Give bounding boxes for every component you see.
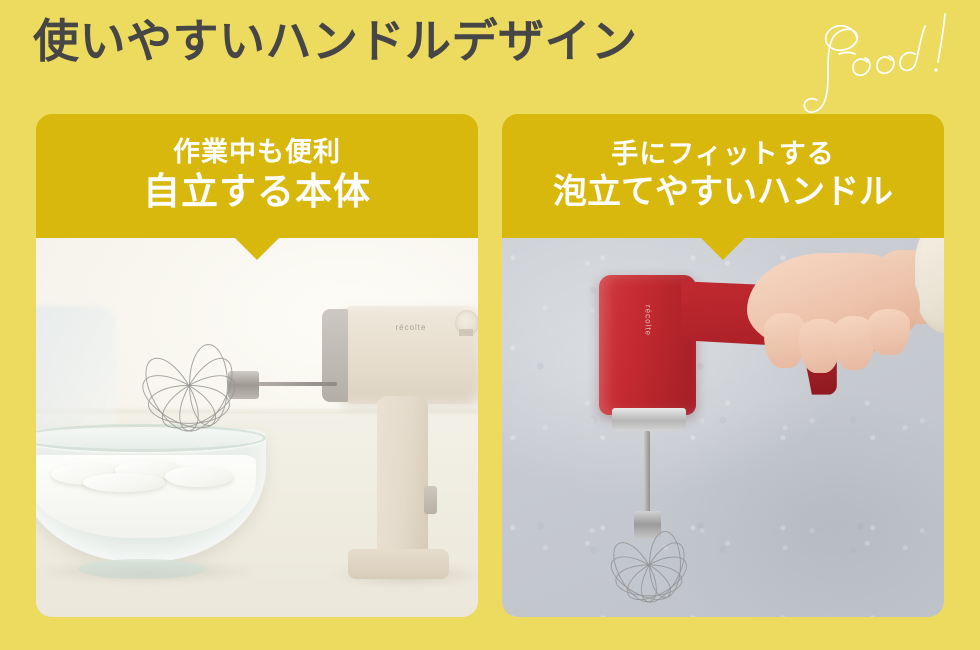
mixer-handle bbox=[377, 396, 428, 560]
panel-caption-small-right: 手にフィットする bbox=[611, 139, 834, 170]
bowl-foot bbox=[78, 559, 207, 579]
panel-caption-small-left: 作業中も便利 bbox=[173, 137, 341, 168]
photo-scene-left: récolte bbox=[36, 238, 478, 617]
speed-indicator-dots bbox=[459, 329, 472, 336]
beater-collar bbox=[612, 408, 686, 431]
whisk-wires bbox=[614, 531, 683, 598]
whisk-shaft bbox=[644, 431, 650, 518]
feature-panel-left: 作業中も便利 自立する本体 bbox=[36, 114, 478, 617]
good-script-badge bbox=[795, 2, 975, 122]
banner-notch-right bbox=[700, 237, 746, 260]
page-title: 使いやすいハンドルデザイン bbox=[33, 18, 638, 64]
panel-caption-large-left: 自立する本体 bbox=[143, 170, 371, 214]
panel-banner-right: 手にフィットする 泡立てやすいハンドル bbox=[502, 114, 944, 238]
glass-bowl bbox=[36, 409, 266, 576]
cream-swirl bbox=[165, 466, 233, 487]
panel-banner-left: 作業中も便利 自立する本体 bbox=[36, 114, 478, 238]
brand-logo: récolte bbox=[644, 305, 653, 336]
mixer-stand-foot bbox=[348, 549, 450, 579]
whisk-wires bbox=[146, 344, 232, 426]
release-button bbox=[424, 486, 437, 513]
hand bbox=[732, 253, 944, 389]
finger bbox=[868, 309, 910, 355]
good-script-icon bbox=[795, 2, 975, 122]
photo-scene-right: récolte bbox=[502, 238, 944, 617]
brand-logo: récolte bbox=[395, 323, 426, 332]
product-photo-left: récolte bbox=[36, 238, 478, 617]
whipped-cream bbox=[36, 455, 256, 538]
feature-panel-right: 手にフィットする 泡立てやすいハンドル récolte bbox=[502, 114, 944, 617]
balloon-whisk-horizontal bbox=[142, 340, 336, 431]
banner-notch-left bbox=[234, 237, 280, 260]
product-photo-right: récolte bbox=[502, 238, 944, 617]
mixer-body: récolte bbox=[339, 306, 478, 404]
cream-swirl bbox=[83, 473, 165, 491]
panel-caption-large-right: 泡立てやすいハンドル bbox=[553, 172, 893, 213]
promo-graphic: 使いやすいハンドルデザイン 作業中も便利 自立する本体 bbox=[0, 0, 980, 650]
